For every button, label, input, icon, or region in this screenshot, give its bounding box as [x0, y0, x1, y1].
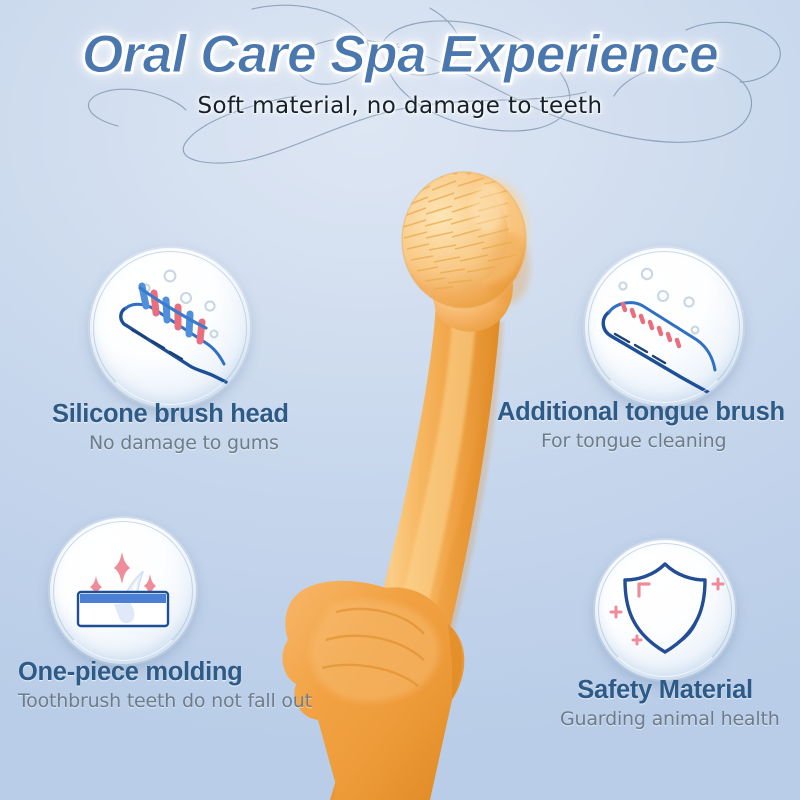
feature-icon-bubble-1: [90, 248, 250, 408]
feature-sub-2: For tongue cleaning: [497, 430, 800, 452]
feature-sub-1: No damage to gums: [52, 432, 352, 454]
shield-icon: [595, 540, 735, 680]
feature-sub-4: Guarding animal health: [560, 708, 770, 730]
feature-icon-bubble-2: [585, 248, 743, 406]
tongue-brush-icon: [585, 248, 743, 406]
feature-heading-4: Safety Material: [560, 676, 770, 705]
droplet-molding-icon: [50, 518, 196, 664]
feature-heading-2: Additional tongue brush: [497, 398, 800, 427]
feature-sub-3: Toothbrush teeth do not fall out: [18, 690, 318, 712]
feature-heading-3: One-piece molding: [18, 658, 318, 687]
infographic-canvas: Oral Care Spa Experience Soft material, …: [0, 0, 800, 800]
feature-heading-1: Silicone brush head: [52, 400, 352, 429]
feature-icon-bubble-3: [50, 518, 196, 664]
feature-icon-bubble-4: [595, 540, 735, 680]
toothbrush-bristles-icon: [90, 248, 250, 408]
